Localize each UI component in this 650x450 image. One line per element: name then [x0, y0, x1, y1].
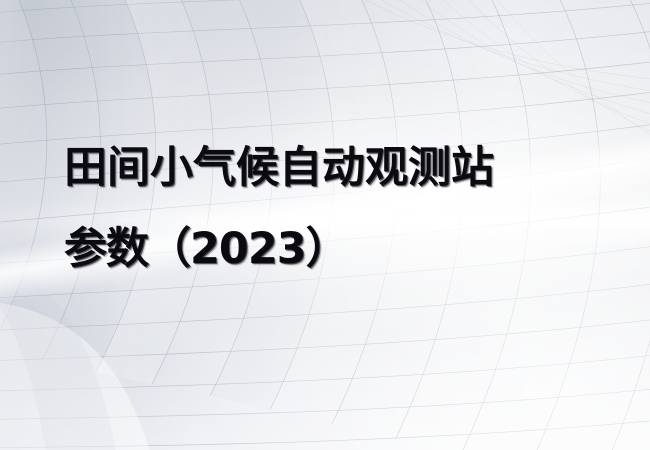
title-line-1: 田间小气候自动观测站 [64, 128, 624, 209]
slide-title: 田间小气候自动观测站 参数（2023） [64, 128, 624, 290]
title-line-2: 参数（2023） [64, 209, 624, 290]
slide-canvas: 田间小气候自动观测站 参数（2023） [0, 0, 650, 450]
